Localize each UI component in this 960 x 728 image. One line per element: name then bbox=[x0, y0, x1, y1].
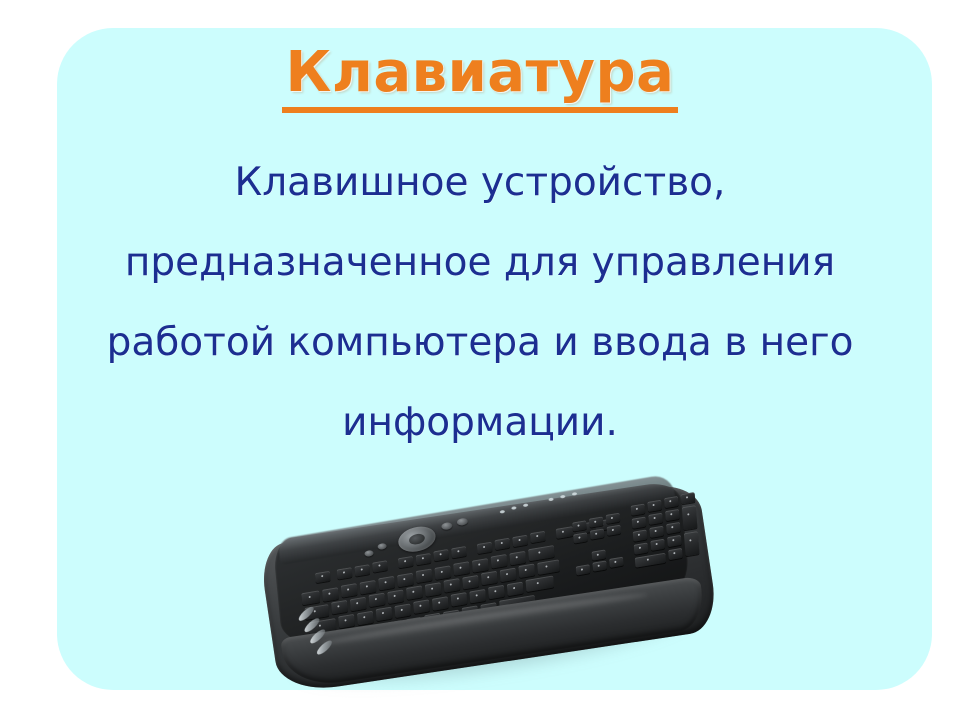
media-dial-center bbox=[408, 532, 426, 546]
navigation-cluster bbox=[572, 513, 636, 583]
keyboard-photo bbox=[262, 495, 718, 695]
keyboard-image-group bbox=[250, 462, 731, 727]
paragraph-line: информации. bbox=[80, 383, 880, 463]
paragraph-line: Клавишное устройство, bbox=[80, 143, 880, 223]
paragraph-line: предназначенное для управления bbox=[80, 223, 880, 303]
definition-paragraph: Клавишное устройство, предназначенное дл… bbox=[80, 143, 880, 463]
paragraph-line: работой компьютера и ввода в него bbox=[80, 303, 880, 383]
slide: Клавиатура Клавишное устройство, предназ… bbox=[0, 0, 960, 720]
numeric-keypad bbox=[631, 495, 701, 572]
